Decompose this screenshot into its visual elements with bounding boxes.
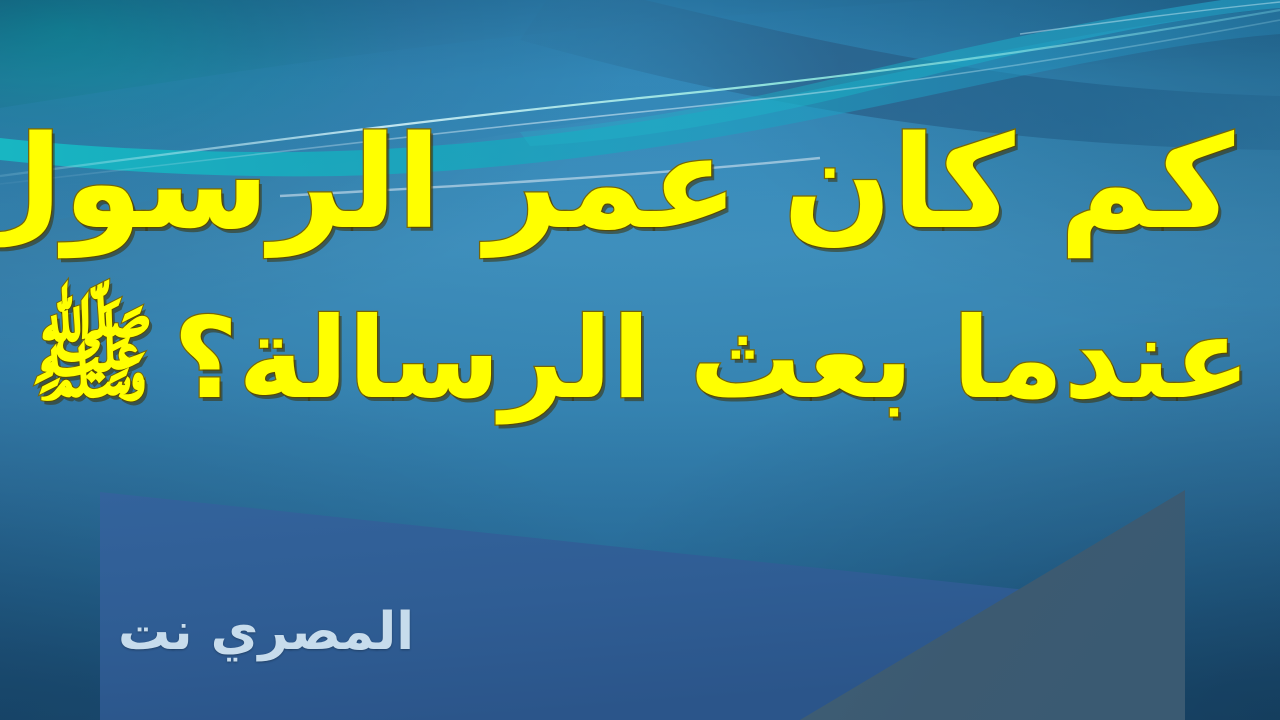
- salawat-calligraphy-icon: ﷺ: [29, 309, 155, 403]
- slide-canvas: كم كان عمر الرسول ﷺ عندما بعث الرسالة؟ ا…: [0, 0, 1280, 720]
- headline-line-2-row: ﷺ عندما بعث الرسالة؟: [46, 297, 1234, 422]
- headline-line-2: عندما بعث الرسالة؟: [173, 297, 1250, 422]
- headline-line-1: كم كان عمر الرسول: [46, 112, 1234, 255]
- site-watermark: المصري نت: [118, 602, 414, 662]
- headline-block: كم كان عمر الرسول ﷺ عندما بعث الرسالة؟: [0, 112, 1280, 423]
- bottom-shapes-group: [0, 430, 1280, 720]
